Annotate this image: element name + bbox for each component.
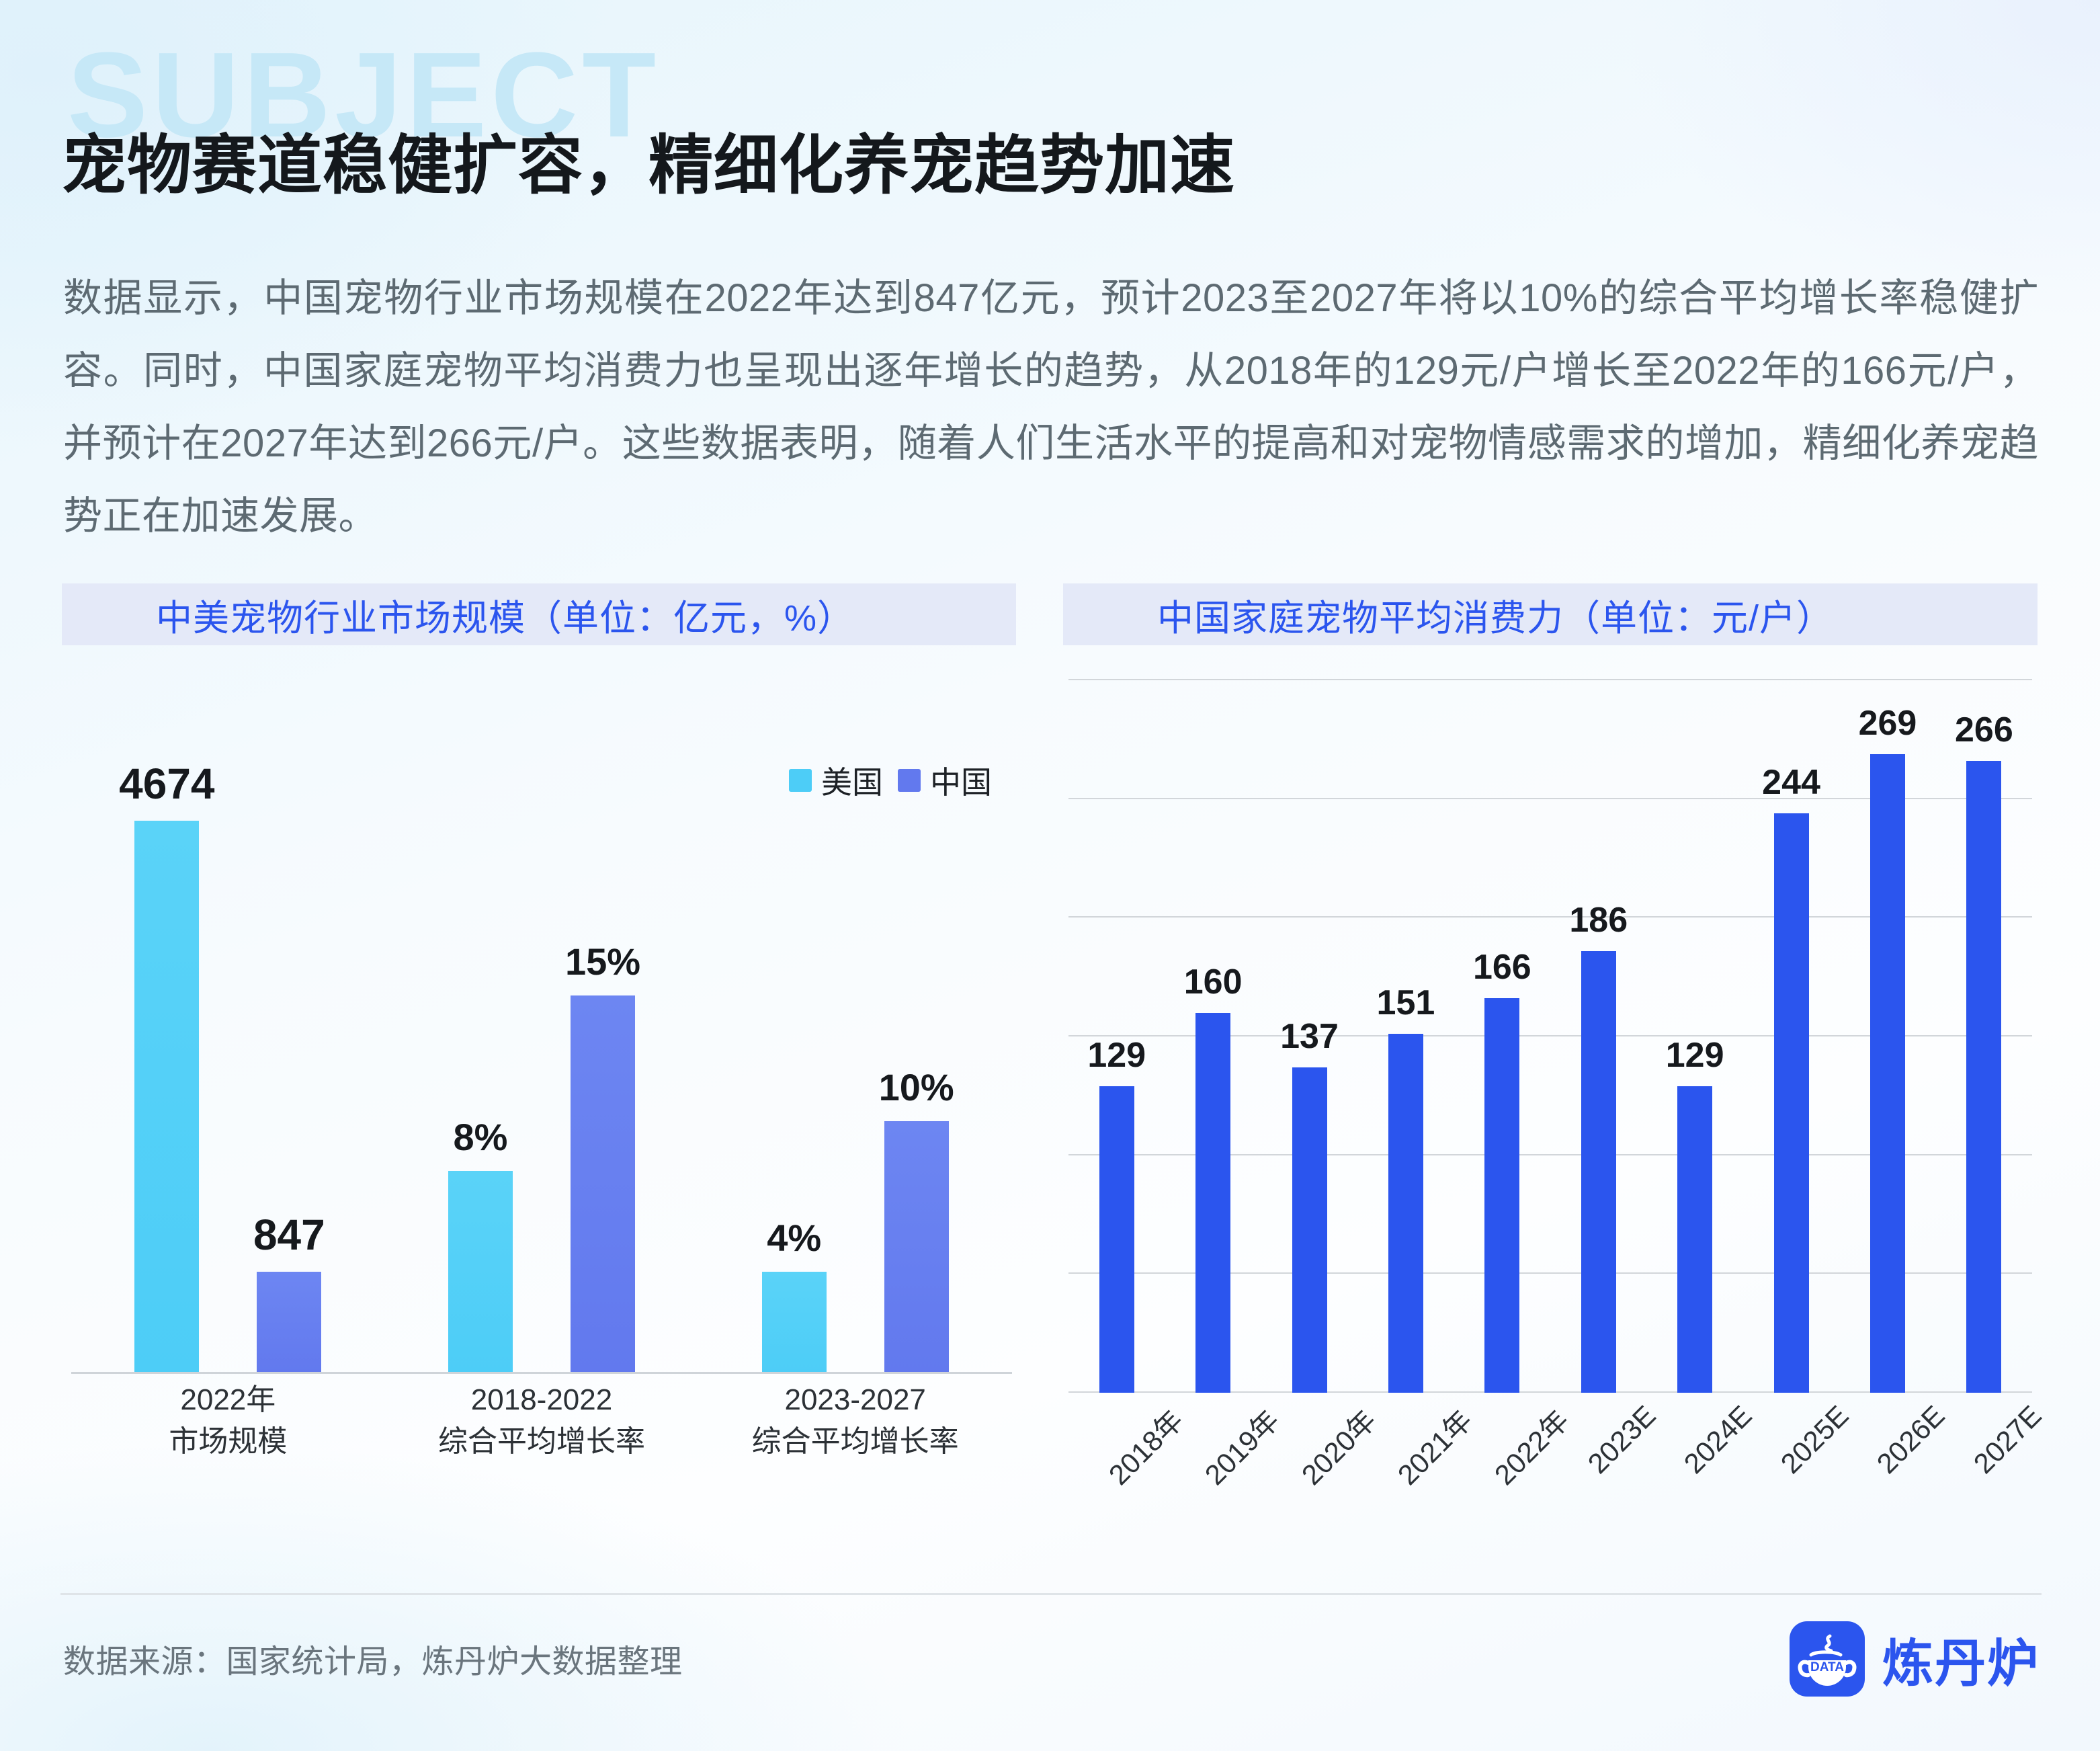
bar-value-label: 10%: [879, 1065, 954, 1109]
intro-paragraph: 数据显示，中国宠物行业市场规模在2022年达到847亿元，预计2023至2027…: [63, 262, 2039, 553]
bar-item: 244: [1743, 680, 1839, 1393]
brand-name-label: 炼丹炉: [1882, 1622, 2040, 1696]
chart-panel-market-size: 中美宠物行业市场规模（单位：亿元，%） 美国 中国 46748478%15%4%…: [62, 583, 1016, 1551]
bar-item: 4%: [762, 729, 827, 1372]
bar-value-label: 137: [1280, 1016, 1339, 1057]
chart-panel-household-spend: 中国家庭宠物平均消费力（单位：元/户） 12916013715116618612…: [1063, 583, 2038, 1551]
bar-value-label: 847: [253, 1210, 325, 1260]
chart-title-left: 中美宠物行业市场规模（单位：亿元，%）: [156, 588, 854, 641]
bar-item: 8%: [448, 729, 513, 1372]
bar-item: 10%: [884, 729, 949, 1372]
bar: [1870, 754, 1905, 1393]
chart-title-bar-left: 中美宠物行业市场规模（单位：亿元，%）: [62, 583, 1016, 645]
page-title: 宠物赛道稳健扩容，精细化养宠趋势加速: [62, 113, 1235, 206]
bar-chart-market-size: 美国 中国 46748478%15%4%10% 2022年市场规模2018-20…: [62, 729, 1016, 1374]
cauldron-data-icon: DATA: [1790, 1621, 1865, 1697]
bar-item: 847: [257, 729, 321, 1372]
bar-value-label: 8%: [454, 1115, 508, 1159]
bar-value-label: 129: [1087, 1035, 1146, 1075]
bar-group: 4%10%: [698, 729, 1012, 1372]
x-axis-label: 2022年市场规模: [71, 1379, 385, 1463]
bar-value-label: 4674: [119, 759, 214, 809]
bar-value-label: 266: [1955, 710, 2013, 750]
bar-chart-household-spend: 129160137151166186129244269266 2018年2019…: [1063, 680, 2038, 1393]
bar-cn: [257, 1272, 321, 1372]
bar-item: 129: [1068, 680, 1165, 1393]
bar-item: 4674: [134, 729, 199, 1372]
x-axis-line-left: [71, 1372, 1012, 1374]
bar-value-label: 15%: [565, 940, 640, 983]
bar-cn: [884, 1121, 949, 1372]
bar: [1966, 761, 2001, 1393]
x-axis-labels-left: 2022年市场规模2018-2022综合平均增长率2023-2027综合平均增长…: [71, 1379, 1012, 1463]
bar-item: 266: [1936, 680, 2032, 1393]
bar-value-label: 129: [1666, 1035, 1724, 1075]
chart-title-bar-right: 中国家庭宠物平均消费力（单位：元/户）: [1063, 583, 2038, 645]
x-axis-label: 2023-2027综合平均增长率: [698, 1379, 1012, 1463]
brand-logo: DATA 炼丹炉: [1790, 1621, 2040, 1697]
x-axis-labels-right: 2018年2019年2020年2021年2022年2023E2024E2025E…: [1068, 1394, 2032, 1440]
bar: [1195, 1013, 1230, 1393]
bar-item: 160: [1165, 680, 1261, 1393]
bar: [1581, 951, 1616, 1393]
bar-container-right: 129160137151166186129244269266: [1068, 680, 2032, 1393]
bar-item: 186: [1550, 680, 1646, 1393]
x-axis-label: 2018年: [1068, 1394, 1165, 1440]
bar-group: 4674847: [71, 729, 385, 1372]
bar-item: 129: [1646, 680, 1742, 1393]
bar: [1292, 1067, 1327, 1393]
bar: [1484, 998, 1519, 1393]
bar-item: 15%: [571, 729, 635, 1372]
bar-item: 269: [1839, 680, 1935, 1393]
data-source-text: 数据来源：国家统计局，炼丹炉大数据整理: [63, 1635, 683, 1682]
bar-value-label: 186: [1569, 900, 1628, 940]
bar-value-label: 151: [1377, 983, 1435, 1023]
chart-title-right: 中国家庭宠物平均消费力（单位：元/户）: [1157, 588, 1833, 641]
bar-us: [762, 1272, 827, 1372]
x-axis-label-text: 2027E: [1967, 1399, 2054, 1486]
footer-divider: [60, 1593, 2042, 1595]
bar-cn: [571, 995, 635, 1372]
bar-group-container-left: 46748478%15%4%10%: [71, 729, 1012, 1372]
bar-group: 8%15%: [385, 729, 699, 1372]
bar-item: 137: [1261, 680, 1357, 1393]
svg-text:DATA: DATA: [1810, 1660, 1844, 1674]
bar-value-label: 160: [1184, 962, 1243, 1002]
bar-value-label: 244: [1762, 762, 1820, 803]
bar-us: [448, 1171, 513, 1372]
bar: [1099, 1086, 1134, 1393]
bar-value-label: 269: [1859, 703, 1917, 743]
bar-us: [134, 821, 199, 1372]
x-axis-label: 2018-2022综合平均增长率: [385, 1379, 699, 1463]
bar: [1774, 813, 1809, 1393]
bar-value-label: 166: [1473, 947, 1531, 987]
infographic-page: SUBJECT 宠物赛道稳健扩容，精细化养宠趋势加速 数据显示，中国宠物行业市场…: [0, 0, 2100, 1751]
bar-value-label: 4%: [767, 1216, 821, 1260]
bar: [1388, 1034, 1423, 1393]
bar-item: 166: [1454, 680, 1550, 1393]
bar-item: 151: [1357, 680, 1454, 1393]
bar: [1677, 1086, 1712, 1393]
